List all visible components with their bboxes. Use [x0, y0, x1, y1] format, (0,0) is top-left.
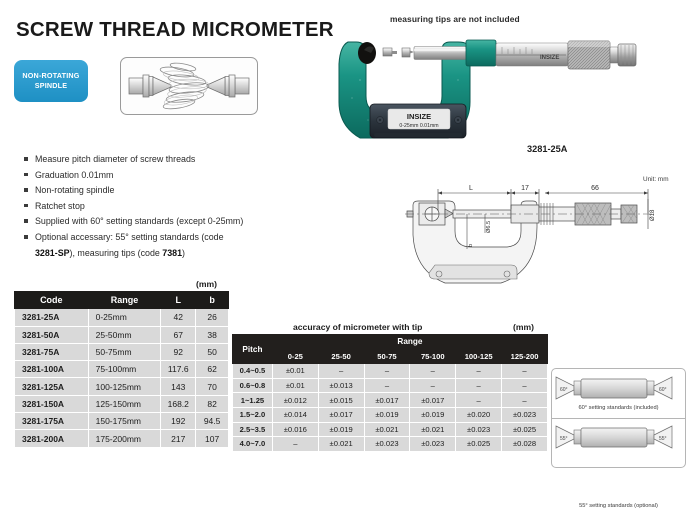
table-row: 3281-175A150-175mm19294.5 — [15, 413, 229, 430]
feature-list: Measure pitch diameter of screw threads … — [24, 152, 324, 261]
dim-label-L: L — [469, 185, 473, 192]
cell-code: 3281-50A — [15, 326, 89, 343]
cell-b: 50 — [196, 343, 229, 360]
cell-accuracy: ±0.017 — [364, 393, 410, 408]
column-header-range-100-125: 100-125 — [456, 349, 502, 364]
accessory-end-text: ) — [182, 248, 185, 258]
cell-accuracy: ±0.023 — [364, 437, 410, 452]
cell-b: 70 — [196, 378, 229, 395]
table-row: 3281-50A25-50mm6738 — [15, 326, 229, 343]
table-row: 3281-75A50-75mm9250 — [15, 343, 229, 360]
list-item-continuation: 3281-SP), measuring tips (code 7381) — [24, 246, 324, 262]
cell-accuracy: ±0.01 — [272, 364, 318, 379]
non-rotating-spindle-badge: NON-ROTATING SPINDLE — [14, 60, 88, 102]
cell-code: 3281-75A — [15, 343, 89, 360]
cell-accuracy: ±0.021 — [364, 422, 410, 437]
table-row: 0.4~0.5±0.01––––– — [233, 364, 548, 379]
cell-range: 50-75mm — [88, 343, 161, 360]
page-title: SCREW THREAD MICROMETER — [16, 18, 334, 42]
cell-accuracy: ±0.019 — [318, 422, 364, 437]
cell-b: 38 — [196, 326, 229, 343]
cell-range: 100-125mm — [88, 378, 161, 395]
cell-accuracy: ±0.025 — [502, 422, 548, 437]
list-item: Measure pitch diameter of screw threads — [24, 152, 324, 168]
cell-b: 107 — [196, 430, 229, 447]
cell-l: 217 — [161, 430, 196, 447]
cell-l: 143 — [161, 378, 196, 395]
cell-l: 92 — [161, 343, 196, 360]
table-row: 3281-100A75-100mm117.662 — [15, 361, 229, 378]
table-row: 3281-125A100-125mm14370 — [15, 378, 229, 395]
cell-accuracy: ±0.01 — [272, 378, 318, 393]
cell-b: 82 — [196, 395, 229, 412]
cell-accuracy: ±0.028 — [502, 437, 548, 452]
cell-accuracy: – — [272, 437, 318, 452]
cell-b: 26 — [196, 309, 229, 326]
cell-b: 62 — [196, 361, 229, 378]
cell-accuracy: ±0.019 — [410, 407, 456, 422]
plate-range-text: 0-25mm 0.01mm — [399, 123, 438, 129]
code-7381: 7381 — [162, 248, 182, 258]
table-header-row-sub: 0-25 25-50 50-75 75-100 100-125 125-200 — [233, 349, 548, 364]
cell-accuracy: ±0.014 — [272, 407, 318, 422]
list-item: Non-rotating spindle — [24, 183, 324, 199]
column-header-range-125-200: 125-200 — [502, 349, 548, 364]
cell-accuracy: – — [502, 364, 548, 379]
cell-pitch: 1.5~2.0 — [233, 407, 273, 422]
list-item: Supplied with 60° setting standards (exc… — [24, 214, 324, 230]
accuracy-table-unit-label: (mm) — [513, 322, 534, 332]
cell-range: 0-25mm — [88, 309, 161, 326]
cell-code: 3281-150A — [15, 395, 89, 412]
cell-l: 117.6 — [161, 361, 196, 378]
column-header-b: b — [196, 292, 229, 309]
cell-accuracy: ±0.021 — [318, 437, 364, 452]
badge-line-1: NON-ROTATING — [22, 71, 79, 80]
cell-accuracy: ±0.017 — [318, 407, 364, 422]
code-3281-sp: 3281-SP — [35, 248, 70, 258]
angle-label-left-55: 55° — [560, 436, 568, 442]
cell-accuracy: ±0.020 — [456, 407, 502, 422]
setting-standard-60-caption: 60° setting standards (included) — [552, 405, 685, 411]
cell-pitch: 4.0~7.0 — [233, 437, 273, 452]
spec-table-unit-label: (mm) — [196, 279, 217, 289]
technical-drawing: L 17 66 Ø18 Ø6.5 b — [405, 175, 685, 290]
list-item: Graduation 0.01mm — [24, 168, 324, 184]
cell-accuracy: – — [456, 378, 502, 393]
column-header-range: Range — [272, 335, 547, 350]
column-header-l: L — [161, 292, 196, 309]
cell-accuracy: ±0.019 — [364, 407, 410, 422]
setting-standard-55: 55° 55° 55° setting standards (optional) — [552, 418, 685, 467]
accessory-mid-text: ), measuring tips (code — [70, 248, 163, 258]
cell-pitch: 2.5~3.5 — [233, 422, 273, 437]
column-header-code: Code — [15, 292, 89, 309]
dim-label-b: b — [468, 244, 474, 247]
dim-label-d65: Ø6.5 — [486, 221, 492, 233]
cell-code: 3281-175A — [15, 413, 89, 430]
table-row: 1.5~2.0±0.014±0.017±0.019±0.019±0.020±0.… — [233, 407, 548, 422]
plate-brand-text: INSIZE — [407, 112, 431, 121]
cell-accuracy: ±0.023 — [456, 422, 502, 437]
cell-range: 75-100mm — [88, 361, 161, 378]
table-row: 4.0~7.0–±0.021±0.023±0.023±0.025±0.028 — [233, 437, 548, 452]
cell-code: 3281-125A — [15, 378, 89, 395]
cell-pitch: 0.4~0.5 — [233, 364, 273, 379]
cell-accuracy: – — [364, 364, 410, 379]
table-row: 2.5~3.5±0.016±0.019±0.021±0.021±0.023±0.… — [233, 422, 548, 437]
cell-accuracy: ±0.023 — [410, 437, 456, 452]
accuracy-table: Pitch Range 0-25 25-50 50-75 75-100 100-… — [232, 334, 548, 452]
cell-accuracy: – — [318, 364, 364, 379]
cell-accuracy: ±0.015 — [318, 393, 364, 408]
cell-l: 192 — [161, 413, 196, 430]
column-header-range-25-50: 25-50 — [318, 349, 364, 364]
product-datasheet-page: SCREW THREAD MICROMETER NON-ROTATING SPI… — [0, 0, 690, 475]
cell-code: 3281-25A — [15, 309, 89, 326]
column-header-range: Range — [88, 292, 161, 309]
cell-accuracy: – — [456, 393, 502, 408]
cell-accuracy: – — [502, 378, 548, 393]
cell-l: 67 — [161, 326, 196, 343]
cell-pitch: 1~1.25 — [233, 393, 273, 408]
thread-measuring-diagram — [120, 57, 258, 115]
setting-standard-55-caption: 55° setting standards (optional) — [552, 503, 685, 509]
cell-accuracy: ±0.016 — [272, 422, 318, 437]
cell-accuracy: ±0.023 — [502, 407, 548, 422]
cell-accuracy: ±0.013 — [318, 378, 364, 393]
list-item: Ratchet stop — [24, 199, 324, 215]
angle-label-right-55: 55° — [659, 436, 667, 442]
cell-accuracy: – — [456, 364, 502, 379]
angle-label-left-60: 60° — [560, 387, 568, 393]
cell-range: 150-175mm — [88, 413, 161, 430]
cell-accuracy: – — [410, 364, 456, 379]
cell-accuracy: ±0.017 — [410, 393, 456, 408]
table-row: 3281-200A175-200mm217107 — [15, 430, 229, 447]
list-item: Optional accessary: 55° setting standard… — [24, 230, 324, 246]
specification-table: Code Range L b 3281-25A0-25mm4226 3281-5… — [14, 291, 229, 448]
angle-label-right-60: 60° — [659, 387, 667, 393]
cell-range: 175-200mm — [88, 430, 161, 447]
cell-accuracy: – — [364, 378, 410, 393]
accuracy-table-title: accuracy of micrometer with tip — [293, 322, 422, 332]
cell-code: 3281-200A — [15, 430, 89, 447]
table-row: 1~1.25±0.012±0.015±0.017±0.017–– — [233, 393, 548, 408]
table-row: 0.6~0.8±0.01±0.013–––– — [233, 378, 548, 393]
dim-label-66: 66 — [591, 185, 599, 192]
cell-accuracy: – — [410, 378, 456, 393]
column-header-pitch: Pitch — [233, 335, 273, 364]
cell-range: 25-50mm — [88, 326, 161, 343]
product-photo: INSIZE INSIZE 0-25mm 0.01mm — [330, 20, 660, 160]
table-row: 3281-150A125-150mm168.282 — [15, 395, 229, 412]
cell-b: 94.5 — [196, 413, 229, 430]
cell-l: 168.2 — [161, 395, 196, 412]
cell-accuracy: ±0.012 — [272, 393, 318, 408]
dim-label-17: 17 — [521, 185, 529, 192]
table-header-row-top: Pitch Range — [233, 335, 548, 350]
cell-accuracy: – — [502, 393, 548, 408]
badge-line-2: SPINDLE — [35, 81, 68, 90]
cell-code: 3281-100A — [15, 361, 89, 378]
cell-pitch: 0.6~0.8 — [233, 378, 273, 393]
cell-accuracy: ±0.021 — [410, 422, 456, 437]
cell-range: 125-150mm — [88, 395, 161, 412]
setting-standards-panel: 60° 60° 60° setting standards (included)… — [551, 368, 686, 468]
barrel-brand-text: INSIZE — [540, 55, 559, 61]
table-row: 3281-25A0-25mm4226 — [15, 309, 229, 326]
cell-accuracy: ±0.025 — [456, 437, 502, 452]
setting-standard-60: 60° 60° 60° setting standards (included) — [552, 369, 685, 418]
dim-label-d18: Ø18 — [650, 209, 656, 221]
column-header-range-0-25: 0-25 — [272, 349, 318, 364]
column-header-range-75-100: 75-100 — [410, 349, 456, 364]
cell-l: 42 — [161, 309, 196, 326]
table-header-row: Code Range L b — [15, 292, 229, 309]
column-header-range-50-75: 50-75 — [364, 349, 410, 364]
optional-accessory-text: Optional accessary: 55° setting standard… — [35, 232, 224, 242]
